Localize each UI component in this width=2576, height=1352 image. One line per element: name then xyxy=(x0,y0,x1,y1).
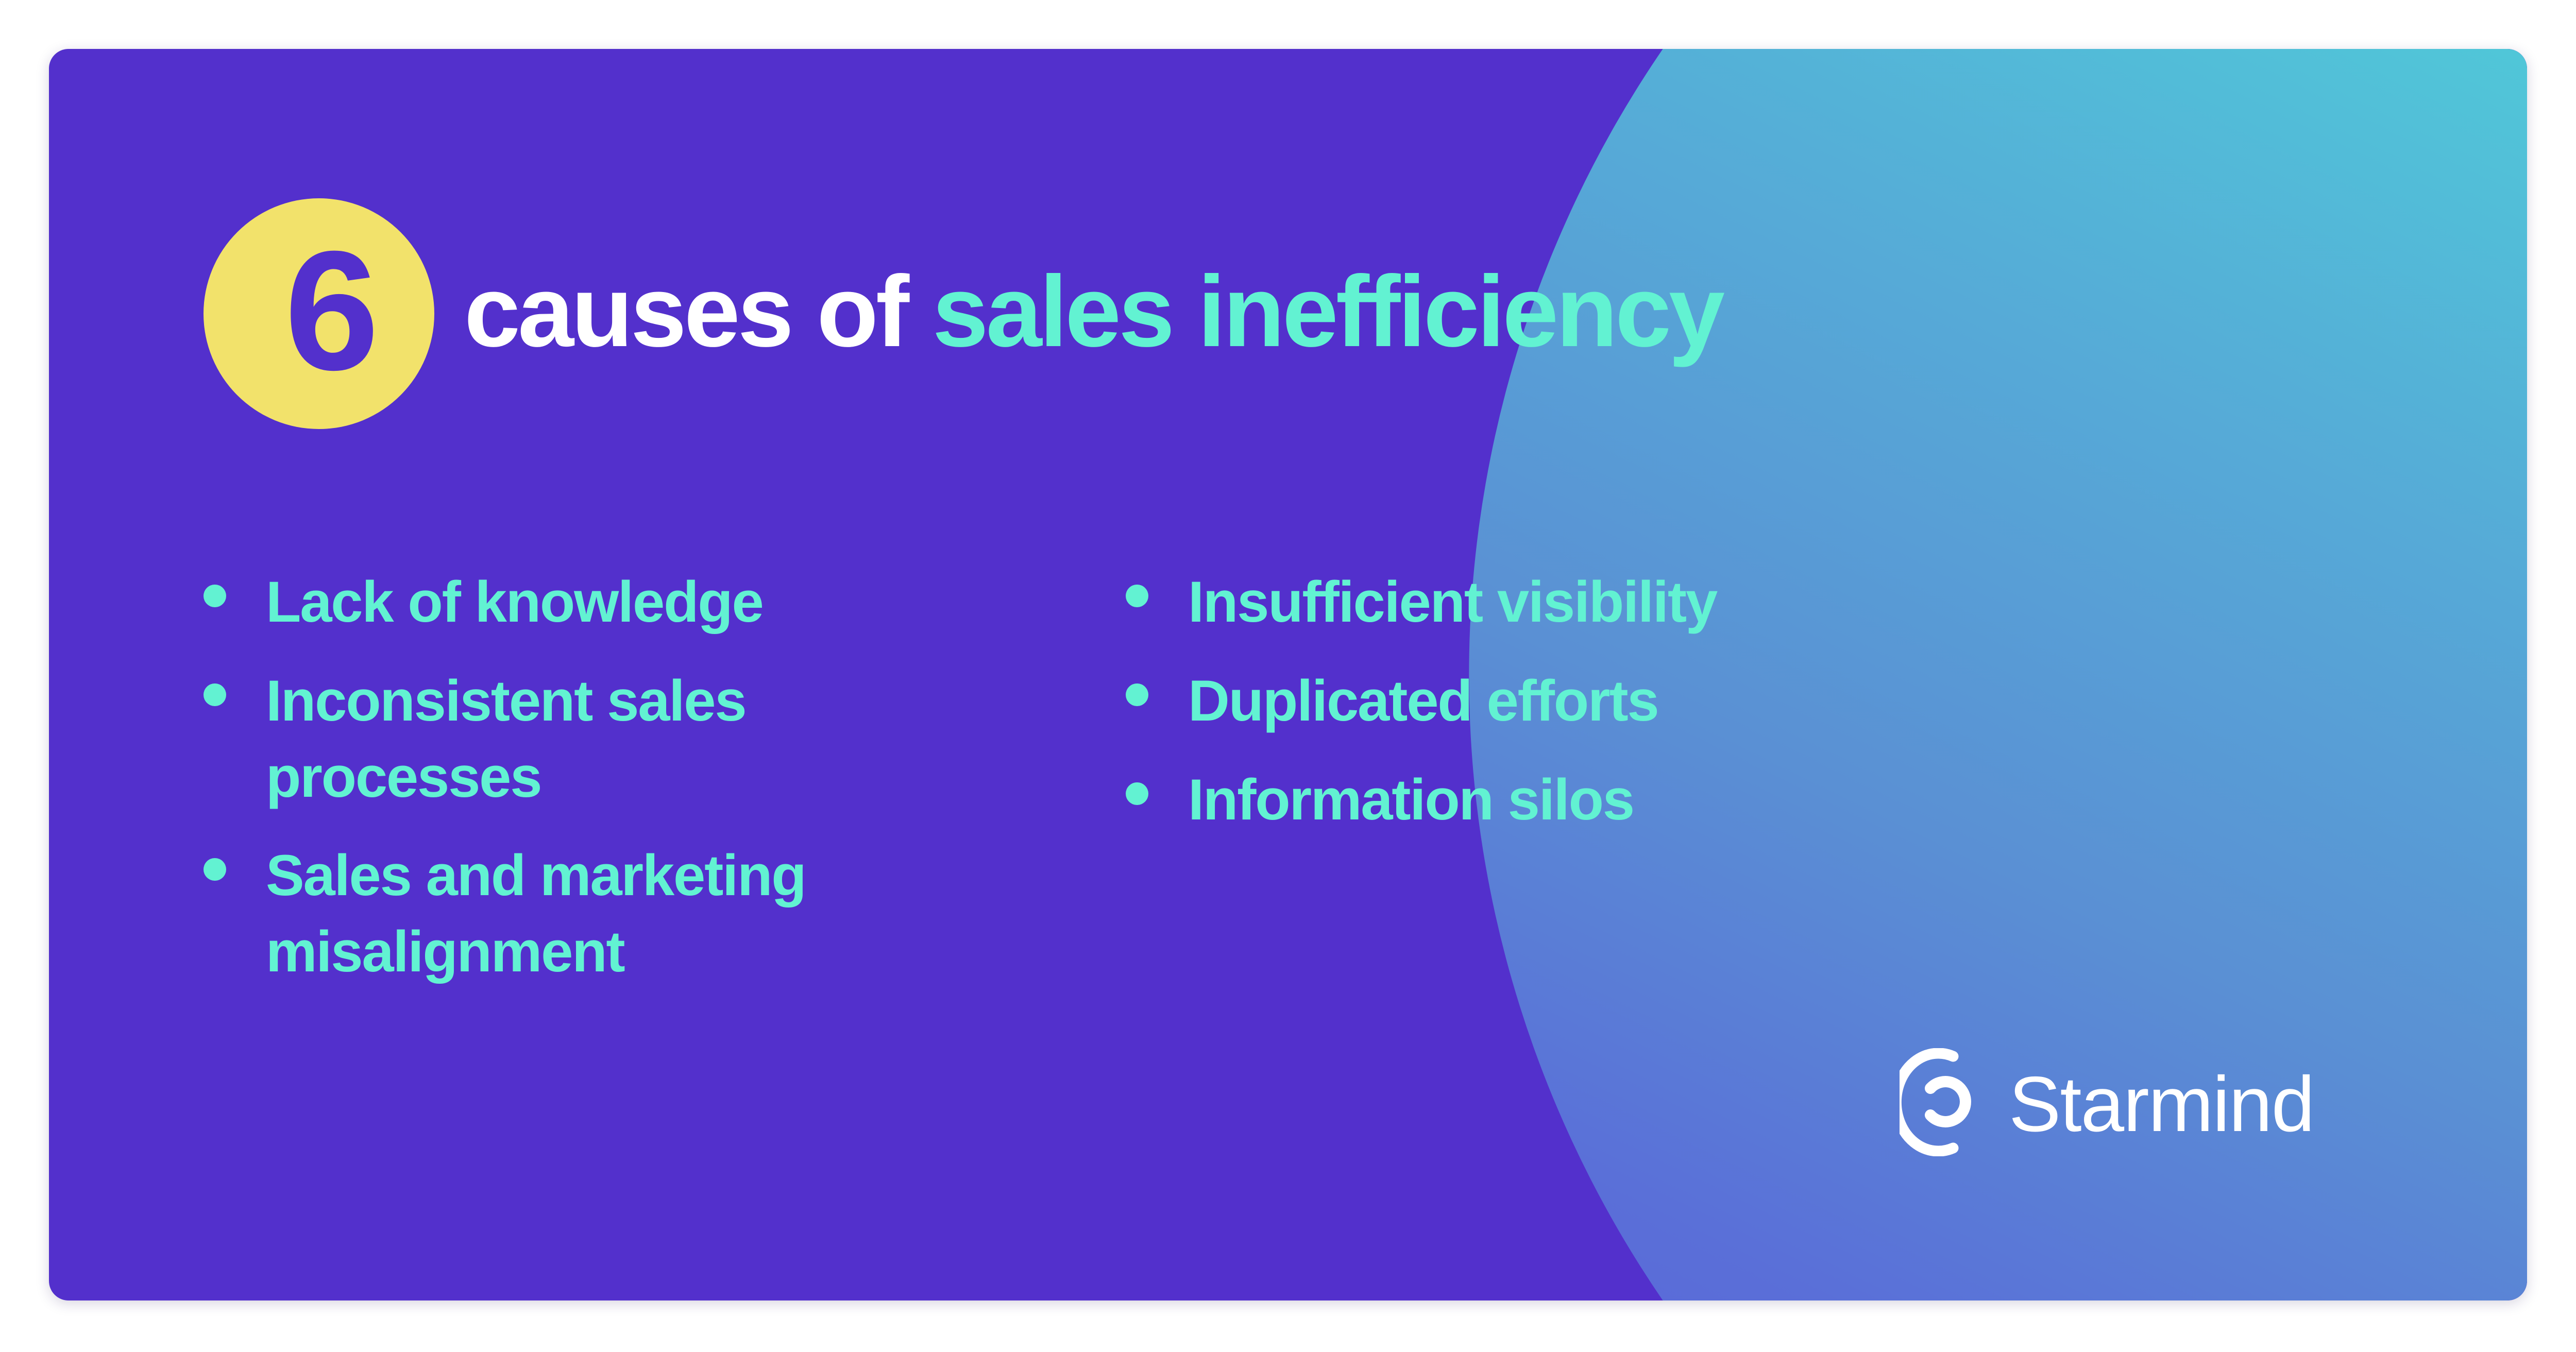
list-item: Inconsistent sales processes xyxy=(204,663,1126,815)
list-item: Duplicated efforts xyxy=(1126,663,2002,739)
cause-list: Lack of knowledge Inconsistent sales pro… xyxy=(204,564,2007,990)
bullet-dot-icon xyxy=(204,858,226,881)
starmind-logo: Starmind xyxy=(1900,1048,2314,1156)
list-item-label: Duplicated efforts xyxy=(1188,663,1658,739)
list-item: Information silos xyxy=(1126,762,2002,838)
bullet-dot-icon xyxy=(204,683,226,706)
logo-outer-arc xyxy=(1900,1053,1953,1151)
title-part-teal: sales inefficiency xyxy=(933,255,1722,368)
bullet-dot-icon xyxy=(1126,782,1148,805)
list-item-label: Lack of knowledge xyxy=(266,564,763,640)
heading-row: 6 causes of sales inefficiency xyxy=(204,198,1722,429)
list-item-label: Insufficient visibility xyxy=(1188,564,1717,640)
cause-list-left-column: Lack of knowledge Inconsistent sales pro… xyxy=(204,564,1126,990)
bullet-dot-icon xyxy=(204,585,226,607)
bullet-dot-icon xyxy=(1126,585,1148,607)
page-title: causes of sales inefficiency xyxy=(464,261,1722,362)
list-item: Insufficient visibility xyxy=(1126,564,2002,640)
infographic-canvas: 6 causes of sales inefficiency Lack of k… xyxy=(0,0,2576,1352)
list-item: Sales and marketing misalignment xyxy=(204,837,1126,990)
bullet-dot-icon xyxy=(1126,683,1148,706)
starmind-s-mark-icon xyxy=(1900,1048,1991,1156)
badge-number: 6 xyxy=(284,226,376,396)
list-item-label: Information silos xyxy=(1188,762,1634,838)
starmind-wordmark: Starmind xyxy=(2009,1065,2314,1143)
list-item-label: Sales and marketing misalignment xyxy=(266,837,1028,990)
logo-inner-s xyxy=(1930,1082,1965,1122)
cause-list-right-column: Insufficient visibility Duplicated effor… xyxy=(1126,564,2002,990)
list-item: Lack of knowledge xyxy=(204,564,1126,640)
title-part-white: causes of xyxy=(464,255,907,368)
number-badge: 6 xyxy=(204,198,434,429)
list-item-label: Inconsistent sales processes xyxy=(266,663,1028,815)
infographic-card: 6 causes of sales inefficiency Lack of k… xyxy=(49,49,2527,1300)
